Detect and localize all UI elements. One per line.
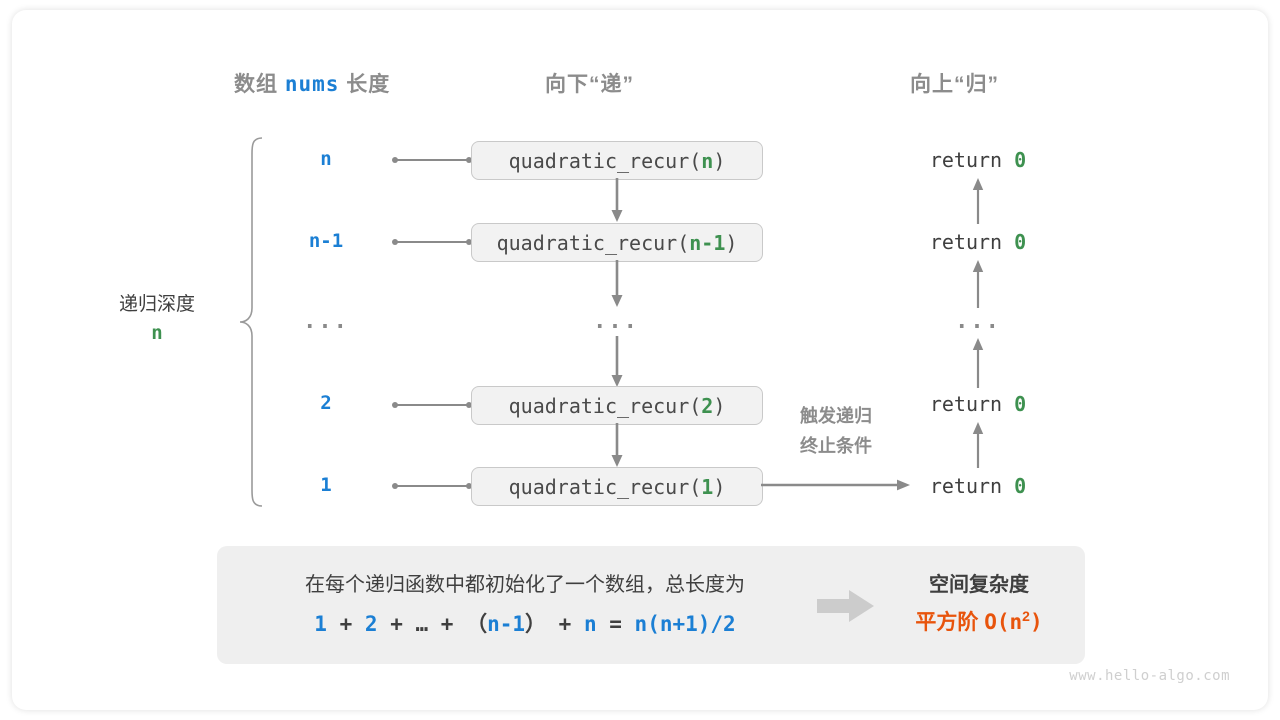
depth-number-row-4: 1	[287, 474, 365, 496]
formula-term-6: n(n+1)/2	[635, 612, 736, 636]
descend-arrow-2	[609, 336, 625, 388]
formula-term-1: 1	[314, 612, 327, 636]
connector-row-3	[393, 404, 471, 406]
formula-op-2: +	[378, 612, 416, 636]
function-box-row-0[interactable]: quadratic_recur(n)	[471, 141, 763, 180]
return-label-row-4: return 0	[898, 474, 1058, 498]
formula-op-5: =	[597, 612, 635, 636]
recursion-depth-text: 递归深度	[119, 294, 195, 315]
function-name-row-0: quadratic_recur(	[509, 149, 702, 173]
header-array-length: 数组 nums 长度	[234, 68, 390, 98]
return-label-row-2: ...	[939, 309, 1017, 334]
function-paren-row-4: )	[713, 475, 725, 499]
summary-result-title: 空间复杂度	[889, 568, 1069, 597]
formula-term-4: n-1	[487, 612, 525, 636]
return-label-row-1: return 0	[898, 230, 1058, 254]
function-arg-row-4: 1	[701, 475, 713, 499]
watermark: www.hello-algo.com	[1069, 668, 1230, 684]
return-label-row-0: return 0	[898, 148, 1058, 172]
summary-arrow-icon	[817, 589, 875, 623]
recursion-depth-label: 递归深度 n	[87, 290, 227, 349]
return-keyword-row-0: return	[930, 148, 1014, 172]
trigger-termination-note: 触发递归 终止条件	[769, 402, 903, 461]
summary-formula: 1 + 2 + … + （n-1） + n = n(n+1)/2	[235, 608, 815, 638]
header-descend: 向下“递”	[545, 68, 634, 98]
function-box-row-2: ...	[577, 309, 655, 334]
ascend-arrow-2	[970, 336, 986, 388]
ascend-arrow-0	[970, 176, 986, 224]
base-case-arrow	[761, 477, 911, 493]
ascend-arrow-3	[970, 420, 986, 468]
function-arg-row-0: n	[701, 149, 713, 173]
return-value-row-1: 0	[1014, 230, 1026, 254]
return-keyword-row-1: return	[930, 230, 1014, 254]
function-name-row-3: quadratic_recur(	[509, 394, 702, 418]
trigger-note-line1: 触发递归	[800, 406, 872, 426]
formula-term-5: n	[584, 612, 597, 636]
summary-result-value: 平方阶 O(n2)	[889, 606, 1069, 636]
depth-number-row-2: ...	[287, 309, 365, 334]
complexity-notation: O(n	[984, 610, 1022, 634]
depth-number-row-1: n-1	[287, 230, 365, 252]
formula-op-3: + （	[428, 612, 487, 636]
connector-row-0	[393, 159, 471, 161]
header-array-prefix: 数组	[234, 73, 285, 96]
recursion-depth-value: n	[151, 322, 162, 344]
formula-op-1: +	[327, 612, 365, 636]
function-box-row-4[interactable]: quadratic_recur(1)	[471, 467, 763, 506]
complexity-notation-tail: )	[1030, 610, 1043, 634]
function-name-row-4: quadratic_recur(	[509, 475, 702, 499]
header-array-nums: nums	[285, 72, 340, 96]
function-arg-row-3: 2	[701, 394, 713, 418]
return-label-row-3: return 0	[898, 392, 1058, 416]
ascend-arrow-1	[970, 258, 986, 308]
formula-op-4: ） +	[525, 612, 584, 636]
descend-arrow-1	[609, 260, 625, 308]
formula-term-3: …	[415, 612, 428, 636]
descend-arrow-3	[609, 423, 625, 468]
function-arg-row-1: n-1	[689, 231, 725, 255]
return-value-row-3: 0	[1014, 392, 1026, 416]
complexity-exponent: 2	[1022, 608, 1030, 624]
return-value-row-4: 0	[1014, 474, 1026, 498]
depth-curly-brace	[236, 136, 266, 508]
formula-term-2: 2	[365, 612, 378, 636]
connector-row-1	[393, 241, 471, 243]
depth-number-row-3: 2	[287, 392, 365, 414]
return-value-row-0: 0	[1014, 148, 1026, 172]
diagram-canvas: 数组 nums 长度 向下“递” 向上“归” 递归深度 n n quadrati…	[12, 10, 1268, 710]
complexity-label: 平方阶	[915, 611, 984, 634]
function-paren-row-1: )	[725, 231, 737, 255]
function-name-row-1: quadratic_recur(	[497, 231, 690, 255]
header-ascend: 向上“归”	[910, 68, 999, 98]
header-array-suffix: 长度	[339, 73, 390, 96]
summary-description: 在每个递归函数中都初始化了一个数组，总长度为	[235, 568, 815, 597]
depth-number-row-0: n	[287, 148, 365, 170]
descend-arrow-0	[609, 178, 625, 223]
function-paren-row-3: )	[713, 394, 725, 418]
connector-row-4	[393, 485, 471, 487]
summary-panel: 在每个递归函数中都初始化了一个数组，总长度为 1 + 2 + … + （n-1）…	[217, 546, 1085, 664]
function-paren-row-0: )	[713, 149, 725, 173]
return-keyword-row-4: return	[930, 474, 1014, 498]
function-box-row-1[interactable]: quadratic_recur(n-1)	[471, 223, 763, 262]
function-box-row-3[interactable]: quadratic_recur(2)	[471, 386, 763, 425]
return-keyword-row-3: return	[930, 392, 1014, 416]
trigger-note-line2: 终止条件	[800, 436, 872, 456]
